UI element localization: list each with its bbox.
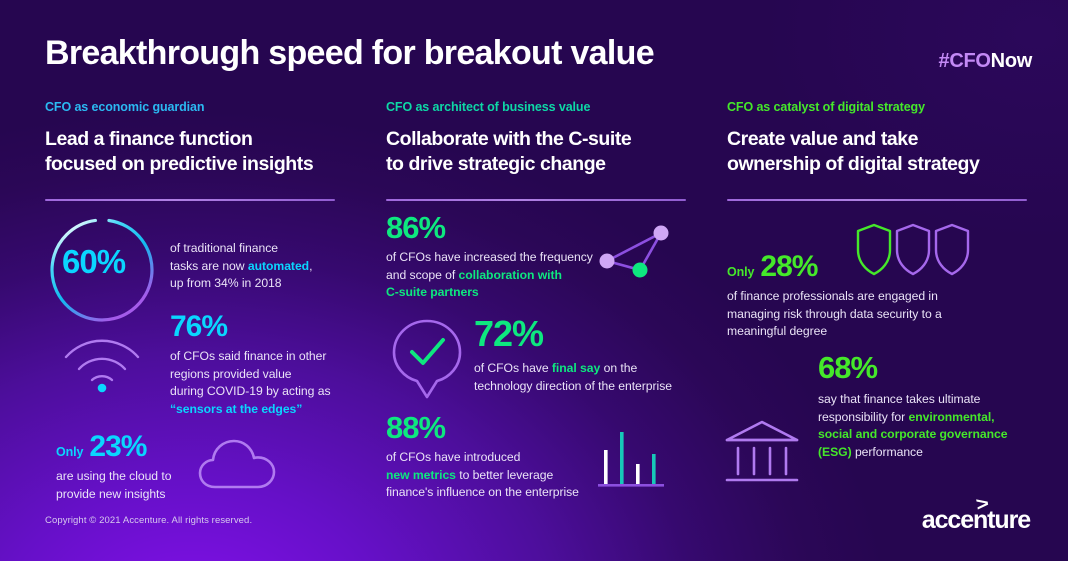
stat-68-line1: say that finance takes ultimate	[818, 392, 980, 406]
accenture-chevron-icon: >	[975, 494, 991, 514]
stat-60-line3: up from 34% in 2018	[170, 276, 282, 290]
stat-60-line1: of traditional finance	[170, 241, 278, 255]
stat-76-text: 76% of CFOs said finance in other region…	[170, 312, 360, 419]
stat-28-line1: of finance professionals are engaged in	[727, 289, 938, 303]
stat-23-prefix: Only	[56, 445, 83, 459]
stat-76-line1: of CFOs said finance in other	[170, 349, 326, 363]
stat-86-highlight-1: collaboration with	[459, 268, 562, 282]
bank-institution-icon	[723, 418, 801, 486]
stat-60-line2a: tasks are now	[170, 259, 248, 273]
column-catalyst-digital-strategy: CFO as catalyst of digital strategy Crea…	[727, 100, 1027, 201]
stat-72-text: 72% of CFOs have final say on the techno…	[474, 316, 704, 395]
stat-88-line2b: to better leverage	[456, 468, 553, 482]
stat-23-icon-wrap	[198, 437, 276, 493]
stat-88-text: 88% of CFOs have introduced new metrics …	[386, 412, 616, 502]
stat-23-line1: are using the cloud to	[56, 469, 171, 483]
stat-value-60: 60%	[62, 245, 125, 278]
stat-72-line2: technology direction of the enterprise	[474, 379, 672, 393]
subhead-line-1: Create value and take	[727, 128, 918, 150]
wifi-signal-icon	[62, 333, 142, 395]
copyright-text: Copyright © 2021 Accenture. All rights r…	[45, 515, 252, 526]
stat-value-72: 72%	[474, 316, 704, 352]
stat-72-line1b: on the	[600, 361, 637, 375]
stat-72-highlight: final say	[552, 361, 600, 375]
stat-76-icon-wrap	[62, 333, 142, 395]
stat-88-line1: of CFOs have introduced	[386, 450, 520, 464]
stat-88-highlight: new metrics	[386, 468, 456, 482]
infographic-canvas: Breakthrough speed for breakout value #C…	[0, 0, 1068, 561]
stat-88-line3: finance's influence on the enterprise	[386, 485, 579, 499]
stat-86-icon-wrap	[598, 222, 680, 286]
column-subhead: Lead a finance function focused on predi…	[45, 127, 341, 177]
stat-28-prefix: Only	[727, 265, 754, 279]
stat-68-highlight-3: (ESG)	[818, 445, 852, 459]
stat-76-line3: during COVID-19 by acting as	[170, 384, 331, 398]
stat-28-line2: managing risk through data security to a	[727, 307, 942, 321]
stat-60-value-wrap: 60%	[62, 245, 125, 278]
subhead-line-2: ownership of digital strategy	[727, 153, 979, 175]
hashtag-accent-part: #CFO	[939, 50, 991, 72]
subhead-line-1: Lead a finance function	[45, 128, 252, 150]
network-nodes-icon	[598, 222, 680, 286]
stat-60-line2b: ,	[309, 259, 312, 273]
page-title: Breakthrough speed for breakout value	[45, 36, 654, 70]
stat-60-highlight: automated	[248, 259, 309, 273]
column-divider	[727, 199, 1027, 201]
stat-value-68: 68%	[818, 352, 1033, 383]
stat-86-highlight-2: C-suite partners	[386, 285, 479, 299]
stat-60-text: of traditional finance tasks are now aut…	[170, 240, 350, 293]
column-eyebrow: CFO as economic guardian	[45, 100, 341, 115]
bank-icon-wrap	[723, 418, 801, 486]
column-architect-business-value: CFO as architect of business value Colla…	[386, 100, 686, 201]
stat-value-88: 88%	[386, 412, 616, 443]
stat-86-text: 86% of CFOs have increased the frequency…	[386, 212, 616, 302]
subhead-line-2: to drive strategic change	[386, 153, 606, 175]
column-subhead: Create value and take ownership of digit…	[727, 127, 1027, 177]
stat-76-line2: regions provided value	[170, 367, 292, 381]
hashtag-plain-part: Now	[991, 50, 1032, 72]
stat-88-icon-wrap	[598, 424, 666, 490]
stat-23-text: Only 23% are using the cloud to provide …	[56, 432, 201, 503]
stat-76-highlight: “sensors at the edges”	[170, 402, 302, 416]
stat-68-highlight-1: environmental,	[909, 410, 995, 424]
column-divider	[45, 199, 335, 201]
accenture-wordmark: accenture	[922, 506, 1030, 534]
column-divider	[386, 199, 686, 201]
stat-86-line2a: and scope of	[386, 268, 459, 282]
stat-72-line1a: of CFOs have	[474, 361, 552, 375]
stat-28-line3: meaningful degree	[727, 324, 827, 338]
stat-86-line1: of CFOs have increased the frequency	[386, 250, 593, 264]
stat-23-line2: provide new insights	[56, 487, 165, 501]
column-eyebrow: CFO as architect of business value	[386, 100, 686, 115]
stat-value-28: 28%	[760, 252, 817, 282]
bar-chart-icon	[598, 424, 666, 490]
stat-value-86: 86%	[386, 212, 616, 243]
campaign-hashtag: #CFONow	[939, 50, 1032, 73]
stat-68-line4b: performance	[852, 445, 923, 459]
stat-28-text: Only 28% of finance professionals are en…	[727, 252, 1017, 341]
pin-check-icon	[390, 318, 464, 400]
column-subhead: Collaborate with the C-suite to drive st…	[386, 127, 686, 177]
accenture-logo: > accenture	[922, 508, 1030, 533]
subhead-line-1: Collaborate with the C-suite	[386, 128, 631, 150]
stat-68-text: 68% say that finance takes ultimate resp…	[818, 352, 1033, 462]
stat-68-line2a: responsibility for	[818, 410, 909, 424]
subhead-line-2: focused on predictive insights	[45, 153, 313, 175]
cloud-icon	[198, 437, 276, 493]
stat-68-highlight-2: social and corporate governance	[818, 427, 1007, 441]
column-eyebrow: CFO as catalyst of digital strategy	[727, 100, 1027, 115]
stat-72-icon-wrap	[390, 318, 464, 400]
stat-value-76: 76%	[170, 312, 360, 342]
stat-value-23: 23%	[89, 432, 146, 462]
column-economic-guardian: CFO as economic guardian Lead a finance …	[45, 100, 341, 201]
